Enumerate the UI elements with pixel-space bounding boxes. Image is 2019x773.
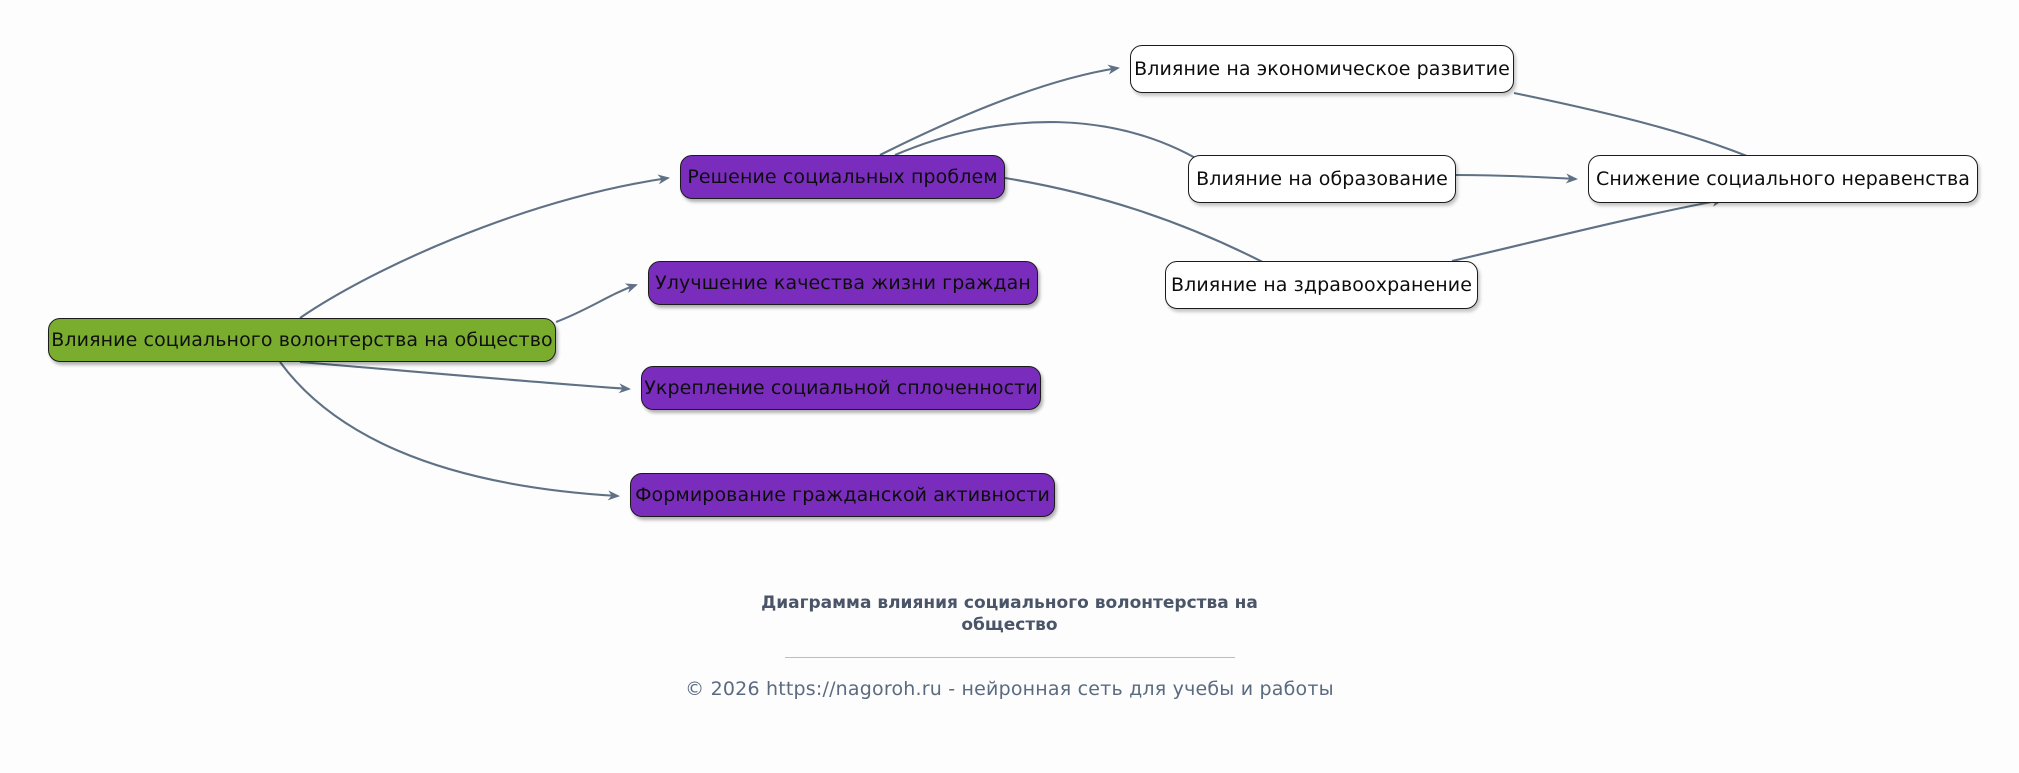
footer-copyright: © 2026 https://nagoroh.ru - нейронная се… <box>0 678 2019 700</box>
edge-economy-to-equality <box>1514 93 1766 164</box>
diagram-page: Влияние социального волонтерства на обще… <box>0 0 2019 773</box>
node-solution[interactable]: Решение социальных проблем <box>680 155 1005 199</box>
edge-solution-to-economy <box>880 68 1118 155</box>
node-label: Влияние на образование <box>1196 170 1448 189</box>
edge-root-to-solution <box>300 178 668 318</box>
edge-root-to-activity <box>280 362 618 496</box>
footer-title: Диаграмма влияния социального волонтерст… <box>750 592 1270 637</box>
node-activity[interactable]: Формирование гражданской активности <box>630 473 1055 517</box>
edge-root-to-quality <box>556 285 636 322</box>
node-label: Улучшение качества жизни граждан <box>655 274 1031 293</box>
edge-root-to-cohesion <box>300 362 629 389</box>
node-label: Формирование гражданской активности <box>635 486 1050 505</box>
node-quality[interactable]: Улучшение качества жизни граждан <box>648 261 1038 305</box>
node-cohesion[interactable]: Укрепление социальной сплоченности <box>641 366 1041 410</box>
node-education[interactable]: Влияние на образование <box>1188 155 1456 203</box>
node-health[interactable]: Влияние на здравоохранение <box>1165 261 1478 309</box>
node-label: Влияние на экономическое развитие <box>1134 60 1510 79</box>
footer-divider <box>785 657 1235 658</box>
diagram-footer: Диаграмма влияния социального волонтерст… <box>0 592 2019 700</box>
node-root[interactable]: Влияние социального волонтерства на обще… <box>48 318 556 362</box>
node-economy[interactable]: Влияние на экономическое развитие <box>1130 45 1514 93</box>
node-equality[interactable]: Снижение социального неравенства <box>1588 155 1978 203</box>
node-label: Влияние на здравоохранение <box>1171 276 1472 295</box>
node-label: Решение социальных проблем <box>687 168 997 187</box>
edge-health-to-equality <box>1452 200 1722 261</box>
node-label: Укрепление социальной сплоченности <box>644 379 1038 398</box>
node-label: Снижение социального неравенства <box>1596 170 1970 189</box>
edge-education-to-equality <box>1456 175 1576 179</box>
node-label: Влияние социального волонтерства на обще… <box>51 331 552 350</box>
